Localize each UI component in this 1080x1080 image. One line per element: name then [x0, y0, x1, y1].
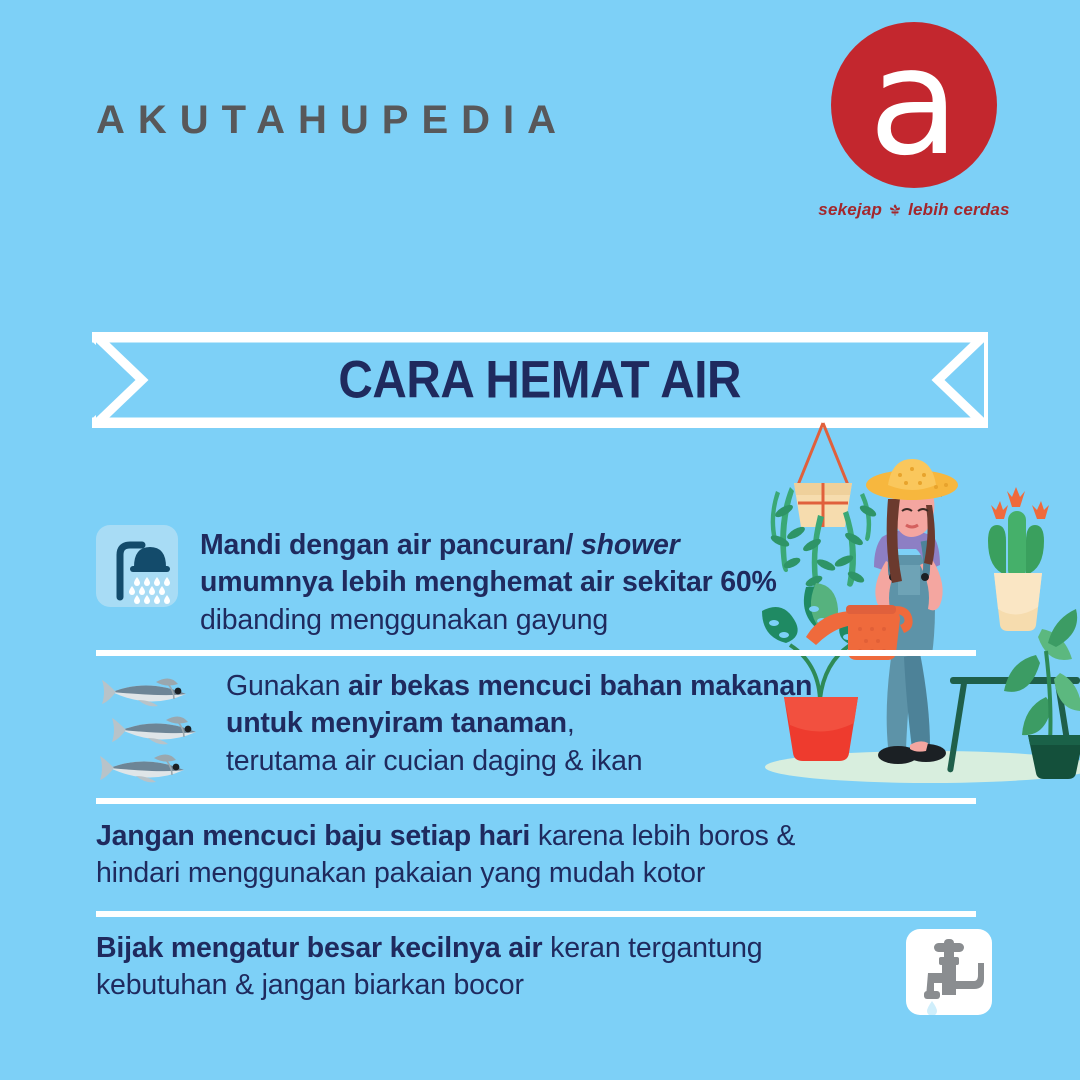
tip-3-text: Jangan mencuci baju setiap hari karena l… — [96, 818, 886, 893]
divider-3 — [96, 911, 976, 917]
tip-2-lead: Gunakan — [226, 670, 348, 702]
leaf-icon — [886, 201, 904, 219]
tip-item-1: Mandi dengan air pancuran/ shower umumny… — [96, 525, 856, 639]
faucet-icon — [906, 929, 992, 1015]
logo-circle: a — [831, 22, 997, 188]
page-title: CARA HEMAT AIR — [92, 350, 988, 411]
brand-wordmark: AKUTAHUPEDIA — [96, 98, 569, 143]
tip-4-bold: Bijak mengatur besar kecilnya air — [96, 932, 542, 964]
logo-tagline-right: lebih cerdas — [908, 200, 1010, 220]
tip-1-bold-2: umumnya lebih menghemat air sekitar 60% — [200, 566, 777, 598]
tip-2-comma: , — [567, 707, 575, 739]
fish-icon — [100, 670, 220, 788]
logo-letter-a: a — [831, 28, 997, 176]
tip-1-regular: dibanding menggunakan gayung — [200, 604, 608, 636]
divider-1 — [96, 650, 976, 656]
tip-1-italic: shower — [581, 529, 680, 561]
tip-1-text: Mandi dengan air pancuran/ shower umumny… — [200, 525, 777, 639]
tip-item-3: Jangan mencuci baju setiap hari karena l… — [96, 818, 886, 893]
tip-item-2: Gunakan air bekas mencuci bahan makanan … — [100, 668, 860, 788]
title-banner: CARA HEMAT AIR — [92, 332, 988, 428]
logo-tagline-left: sekejap — [818, 200, 882, 220]
tip-3-bold: Jangan mencuci baju setiap hari — [96, 820, 530, 852]
tip-item-4: Bijak mengatur besar kecilnya air keran … — [96, 930, 886, 1005]
tip-2-regular: terutama air cucian daging & ikan — [226, 745, 642, 777]
tip-4-text: Bijak mengatur besar kecilnya air keran … — [96, 930, 886, 1005]
logo-tagline: sekejap lebih cerdas — [818, 200, 1010, 220]
brand-logo: a sekejap lebih cerdas — [818, 22, 1010, 220]
tip-1-bold-1: Mandi dengan air pancuran/ — [200, 529, 581, 561]
shower-icon — [96, 525, 178, 607]
divider-2 — [96, 798, 976, 804]
tip-2-text: Gunakan air bekas mencuci bahan makanan … — [226, 668, 860, 780]
